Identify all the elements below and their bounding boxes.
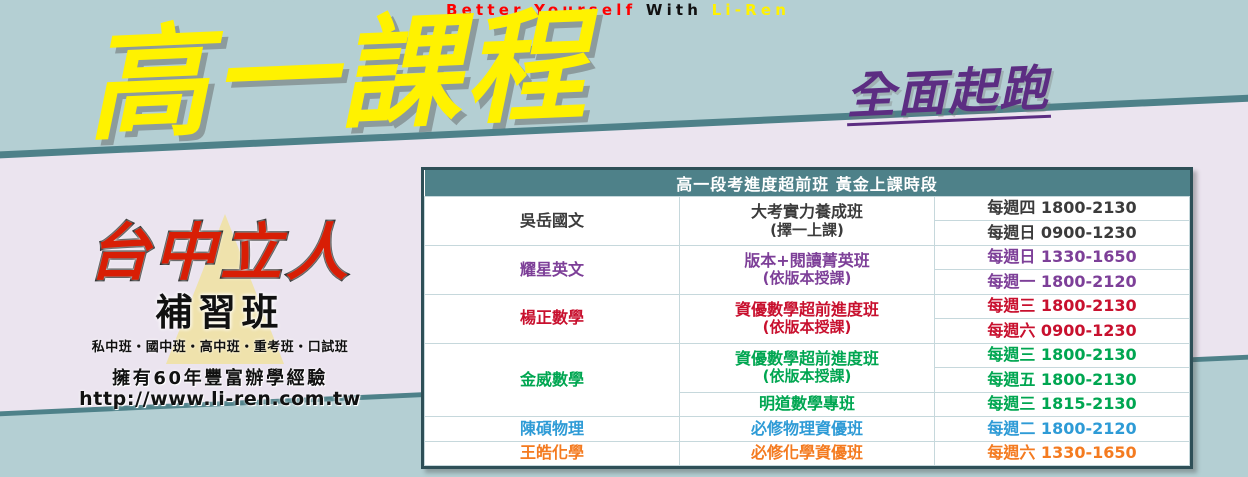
schedule-table: 高一段考進度超前班 黃金上課時段 吳岳國文大考實力養成班(擇一上課)每週四 18… (424, 170, 1190, 466)
schedule-time-cell: 每週三 1800-2130 (935, 294, 1190, 318)
course-note: (擇一上課) (684, 222, 930, 239)
page-subtitle: 全面起跑 (845, 64, 1051, 126)
teacher-cell: 吳岳國文 (425, 197, 680, 246)
table-row: 吳岳國文大考實力養成班(擇一上課)每週四 1800-2130 (425, 197, 1190, 221)
teacher-cell: 楊正數學 (425, 294, 680, 343)
logo-experience-text: 擁有60年豐富辦學經驗 (40, 364, 400, 390)
schedule-table-card: 高一段考進度超前班 黃金上課時段 吳岳國文大考實力養成班(擇一上課)每週四 18… (421, 167, 1193, 469)
schedule-table-header: 高一段考進度超前班 黃金上課時段 (425, 170, 1190, 197)
table-row: 王皓化學必修化學資優班每週六 1330-1650 (425, 441, 1190, 465)
table-row: 耀星英文版本+閱讀菁英班(依版本授課)每週日 1330-1650 (425, 245, 1190, 269)
schedule-time-cell: 每週日 1330-1650 (935, 245, 1190, 269)
course-cell: 大考實力養成班(擇一上課) (680, 197, 935, 246)
schedule-time-cell: 每週五 1800-2130 (935, 368, 1190, 392)
schedule-time-cell: 每週四 1800-2130 (935, 197, 1190, 221)
course-cell: 資優數學超前進度班(依版本授課) (680, 294, 935, 343)
schedule-time-cell: 每週一 1800-2120 (935, 270, 1190, 294)
schedule-time-cell: 每週六 0900-1230 (935, 319, 1190, 343)
logo: 台中立人 補習班 私中班・國中班・高中班・重考班・口試班 擁有60年豐富辦學經驗… (40, 214, 400, 414)
course-cell: 必修化學資優班 (680, 441, 935, 465)
poster-canvas: Better Yourself With Li-Ren 高一課程 全面起跑 台中… (0, 0, 1248, 477)
table-row: 楊正數學資優數學超前進度班(依版本授課)每週三 1800-2130 (425, 294, 1190, 318)
course-cell: 資優數學超前進度班(依版本授課) (680, 343, 935, 392)
logo-course-list: 私中班・國中班・高中班・重考班・口試班 (40, 336, 400, 355)
course-note: (依版本授課) (684, 319, 930, 336)
page-title: 高一課程 (84, 4, 593, 147)
schedule-time-cell: 每週二 1800-2120 (935, 417, 1190, 441)
schedule-table-body: 吳岳國文大考實力養成班(擇一上課)每週四 1800-2130每週日 0900-1… (425, 197, 1190, 466)
table-row: 陳碩物理必修物理資優班每週二 1800-2120 (425, 417, 1190, 441)
logo-brand-name: 台中立人 (40, 220, 400, 285)
course-cell: 必修物理資優班 (680, 417, 935, 441)
course-cell: 版本+閱讀菁英班(依版本授課) (680, 245, 935, 294)
schedule-time-cell: 每週六 1330-1650 (935, 441, 1190, 465)
tagline-part-black: With (646, 1, 702, 19)
teacher-cell: 陳碩物理 (425, 417, 680, 441)
logo-website-url[interactable]: http://www.li-ren.com.tw (40, 388, 400, 410)
teacher-cell: 耀星英文 (425, 245, 680, 294)
teacher-cell: 金威數學 (425, 343, 680, 416)
teacher-cell: 王皓化學 (425, 441, 680, 465)
tagline-part-yellow: Li-Ren (712, 1, 791, 19)
table-row: 金威數學資優數學超前進度班(依版本授課)每週三 1800-2130 (425, 343, 1190, 367)
course-cell: 明道數學專班 (680, 392, 935, 416)
schedule-time-cell: 每週日 0900-1230 (935, 221, 1190, 245)
schedule-time-cell: 每週三 1815-2130 (935, 392, 1190, 416)
logo-brand-sub: 補習班 (40, 294, 400, 331)
course-note: (依版本授課) (684, 270, 930, 287)
course-note: (依版本授課) (684, 368, 930, 385)
schedule-time-cell: 每週三 1800-2130 (935, 343, 1190, 367)
